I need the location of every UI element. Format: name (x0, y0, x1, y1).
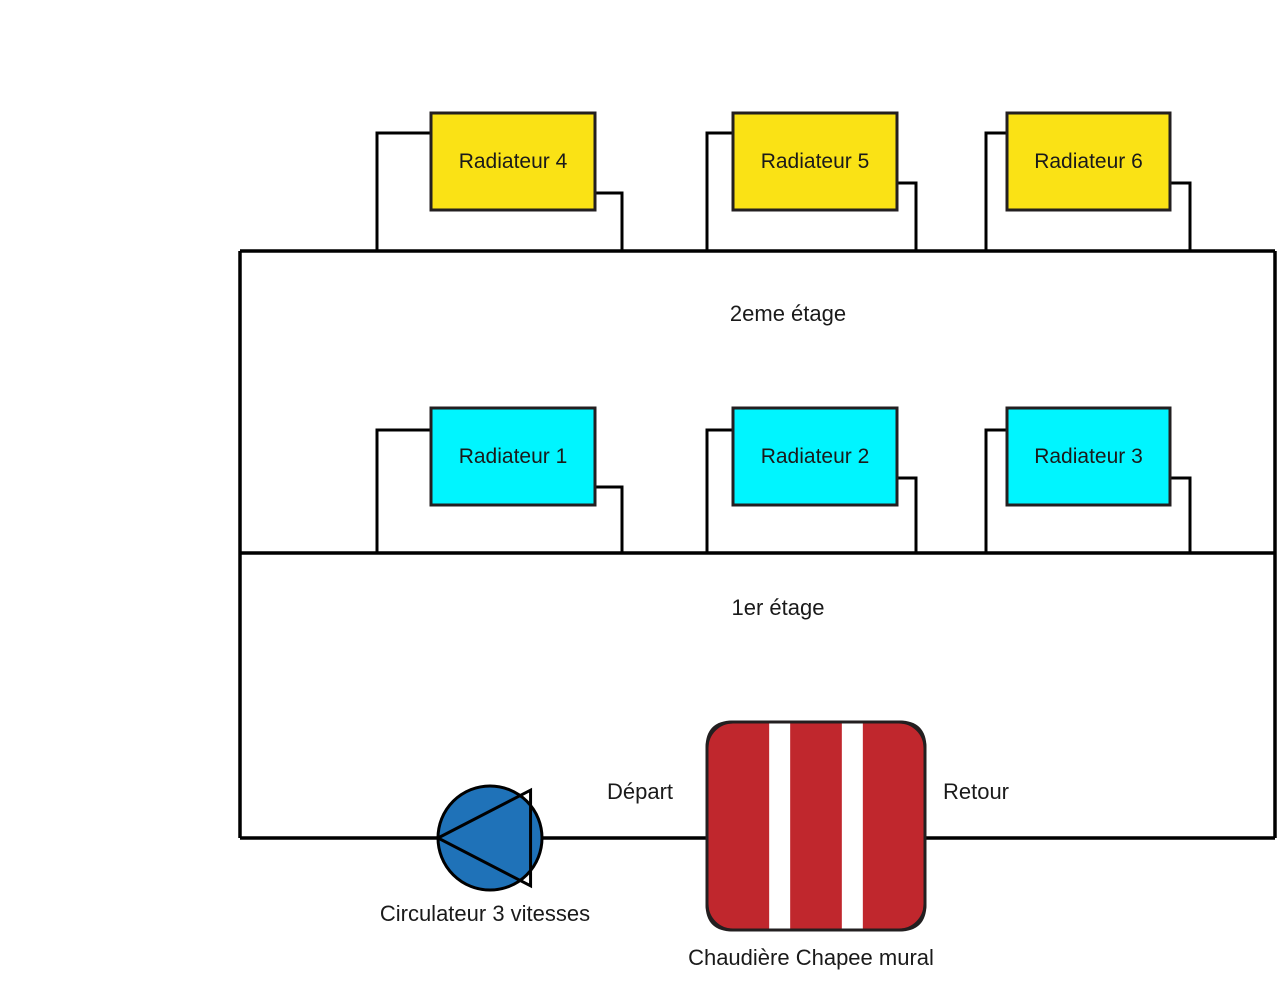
floor-label-1er-etage: 1er étage (732, 595, 825, 620)
radiateur-3-outlet-pipe (1170, 478, 1190, 553)
radiateur-5-label: Radiateur 5 (761, 150, 870, 173)
radiateur-4-inlet-pipe (377, 133, 431, 251)
circulator-pump[interactable] (438, 786, 542, 890)
radiateur-1[interactable]: Radiateur 1 (431, 408, 595, 505)
pump-body-icon[interactable] (438, 786, 542, 890)
pump-label: Circulateur 3 vitesses (380, 901, 590, 926)
radiateur-5-inlet-pipe (707, 133, 733, 251)
radiateur-6-inlet-pipe (986, 133, 1007, 251)
radiateur-1-label: Radiateur 1 (459, 445, 568, 468)
radiateur-5-outlet-pipe (897, 183, 916, 251)
supply-flow-label: Départ (607, 779, 673, 804)
radiateur-1-outlet-pipe (595, 487, 622, 553)
schematic-canvas: Radiateur 4Radiateur 5Radiateur 6Radiate… (0, 0, 1280, 997)
radiateur-2-label: Radiateur 2 (761, 445, 870, 468)
radiateur-6-label: Radiateur 6 (1034, 150, 1143, 173)
radiateur-4-label: Radiateur 4 (459, 150, 568, 173)
radiateur-3-inlet-pipe (986, 430, 1007, 553)
boiler-body-icon[interactable] (707, 722, 925, 930)
radiateur-2-inlet-pipe (707, 430, 733, 553)
boiler-label: Chaudière Chapee mural (688, 945, 934, 970)
radiateur-4-outlet-pipe (595, 193, 622, 251)
boiler[interactable] (707, 722, 925, 930)
boiler-stripe-right (842, 722, 863, 930)
heating-diagram: Radiateur 4Radiateur 5Radiateur 6Radiate… (0, 0, 1280, 997)
radiateur-2[interactable]: Radiateur 2 (733, 408, 897, 505)
radiateur-6-outlet-pipe (1170, 183, 1190, 251)
radiateur-2-outlet-pipe (897, 478, 916, 553)
radiateur-6[interactable]: Radiateur 6 (1007, 113, 1170, 210)
radiateur-4[interactable]: Radiateur 4 (431, 113, 595, 210)
boiler-stripe-left (769, 722, 790, 930)
radiateur-1-inlet-pipe (377, 430, 431, 553)
radiateur-3[interactable]: Radiateur 3 (1007, 408, 1170, 505)
floor-label-2eme-etage: 2eme étage (730, 301, 846, 326)
return-flow-label: Retour (943, 779, 1009, 804)
radiateur-5[interactable]: Radiateur 5 (733, 113, 897, 210)
radiateur-3-label: Radiateur 3 (1034, 445, 1143, 468)
